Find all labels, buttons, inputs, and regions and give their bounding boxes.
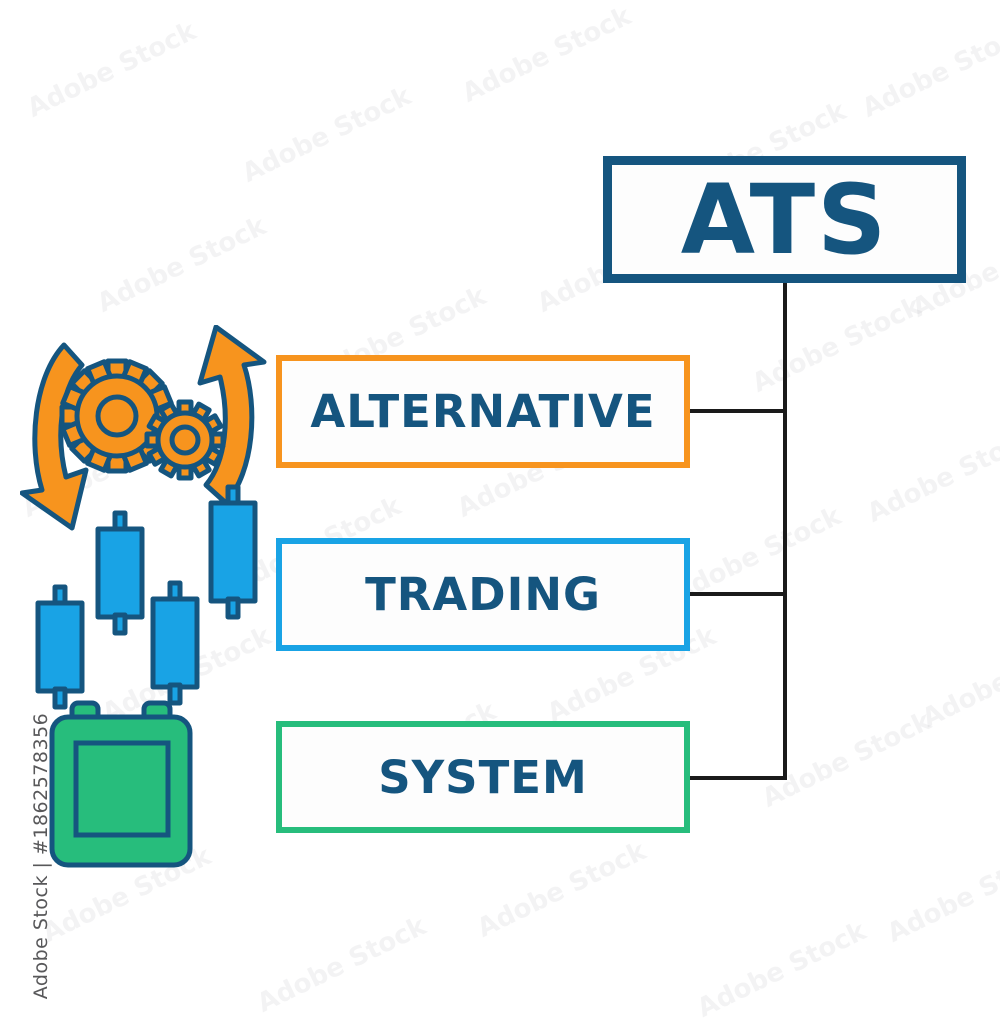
watermark-tile: Adobe Stock [858,16,1000,123]
connector-branch-trading [690,592,787,596]
watermark-tile: Adobe Stock [238,81,416,188]
connector-trunk-line [783,283,787,780]
word-label-system: SYSTEM [378,755,588,800]
infographic-canvas: Adobe Stock Adobe Stock Adobe Stock Adob… [0,0,1000,1000]
calendar-icon [52,703,190,865]
word-box-trading[interactable]: TRADING [276,538,690,651]
watermark-tile: Adobe Stock [918,626,1000,733]
watermark-tile: Adobe Stock [748,291,926,398]
word-label-trading: TRADING [365,572,601,617]
word-box-alternative[interactable]: ALTERNATIVE [276,355,690,468]
trading-automation-illustration [20,325,270,885]
acronym-label: ATS [681,172,888,268]
watermark-tile: Adobe Stock [863,421,1000,528]
watermark-tile: Adobe Stock [693,916,871,1023]
word-box-system[interactable]: SYSTEM [276,721,690,833]
watermark-tile: Adobe Stock [23,16,201,123]
watermark-id-text: Adobe Stock | #1862578356 [30,711,52,1001]
watermark-tile: Adobe Stock [458,1,636,108]
word-label-alternative: ALTERNATIVE [310,389,655,434]
watermark-tile: Adobe Stock [253,911,431,1018]
acronym-box[interactable]: ATS [603,156,966,283]
watermark-tile: Adobe Stock [473,836,651,943]
connector-branch-system [690,776,787,780]
connector-branch-alternative [690,409,787,413]
watermark-tile: Adobe Stock [93,211,271,318]
watermark-tile: Adobe Stock [883,841,1000,948]
